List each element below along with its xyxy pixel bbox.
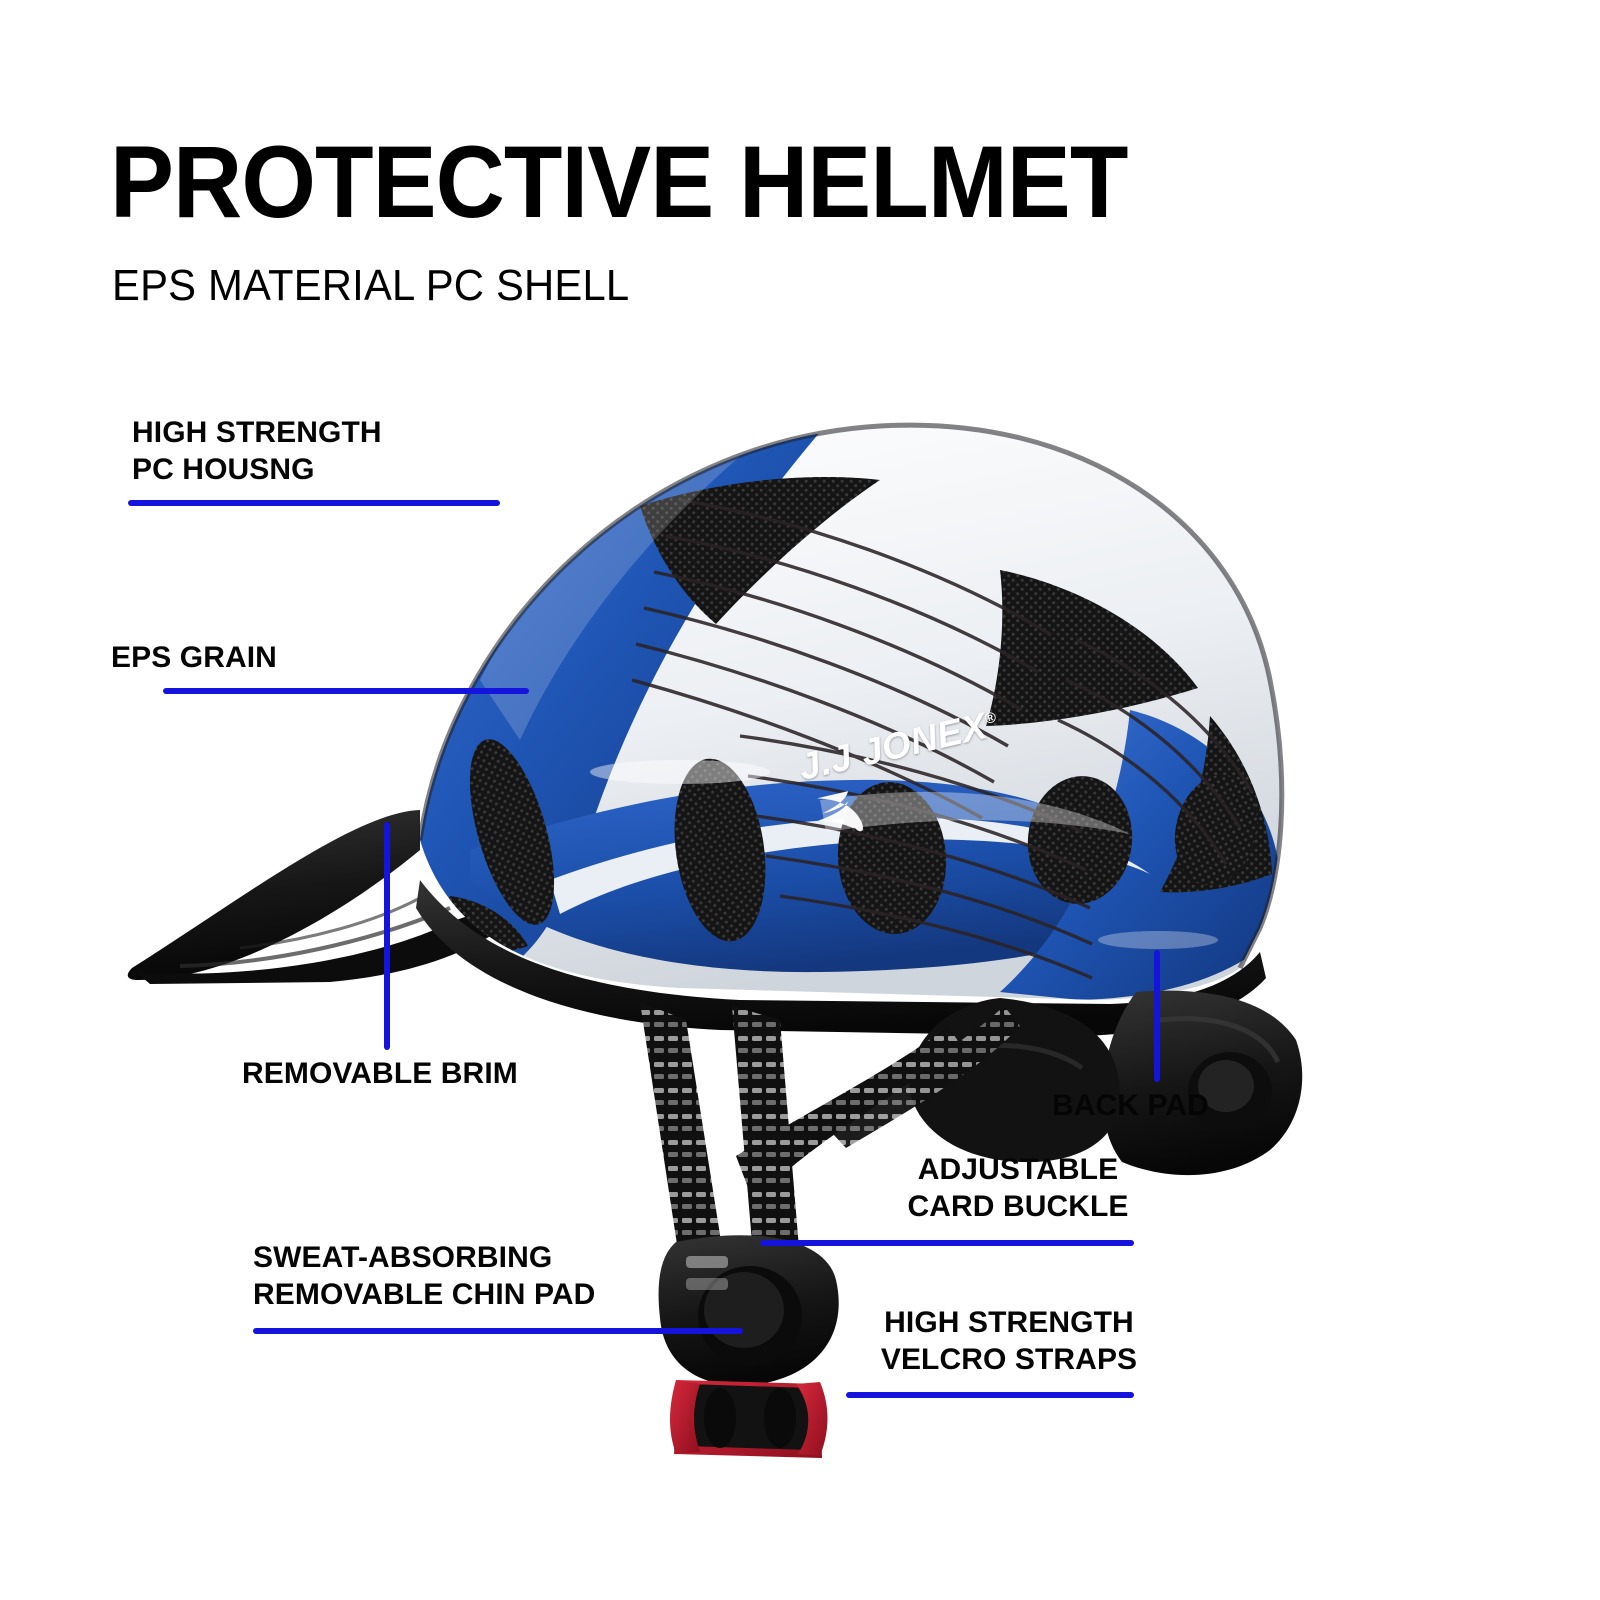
leader-line-removable-brim [384, 822, 390, 1050]
leader-line-high-strength-pc-housng [128, 500, 500, 506]
callout-label-high-strength-pc-housng: HIGH STRENGTH PC HOUSNG [132, 415, 382, 488]
callout-label-eps-grain: EPS GRAIN [111, 640, 277, 677]
callout-label-adjustable-card-buckle: ADJUSTABLE CARD BUCKLE [888, 1152, 1148, 1225]
adjustable-card-buckle-part [659, 1235, 839, 1385]
leader-line-back-pad [1154, 950, 1160, 1082]
callout-label-high-strength-velcro-straps: HIGH STRENGTH VELCRO STRAPS [864, 1305, 1154, 1378]
leader-line-eps-grain [163, 688, 529, 694]
infographic-canvas: PROTECTIVE HELMET EPS MATERIAL PC SHELL [0, 0, 1600, 1600]
callout-label-sweat-absorbing-removable-chin-pad: SWEAT-ABSORBING REMOVABLE CHIN PAD [253, 1240, 595, 1313]
callout-label-removable-brim: REMOVABLE BRIM [242, 1056, 518, 1093]
leader-line-adjustable-card-buckle [760, 1240, 1134, 1246]
leader-line-sweat-absorbing-removable-chin-pad [253, 1328, 743, 1334]
callout-label-back-pad: BACK PAD [1052, 1088, 1209, 1125]
page-subtitle: EPS MATERIAL PC SHELL [112, 264, 629, 308]
side-release-buckle-part [670, 1380, 828, 1458]
leader-line-high-strength-velcro-straps [846, 1392, 1134, 1398]
page-title: PROTECTIVE HELMET [110, 131, 1127, 233]
helmet-shell [370, 425, 1282, 1036]
